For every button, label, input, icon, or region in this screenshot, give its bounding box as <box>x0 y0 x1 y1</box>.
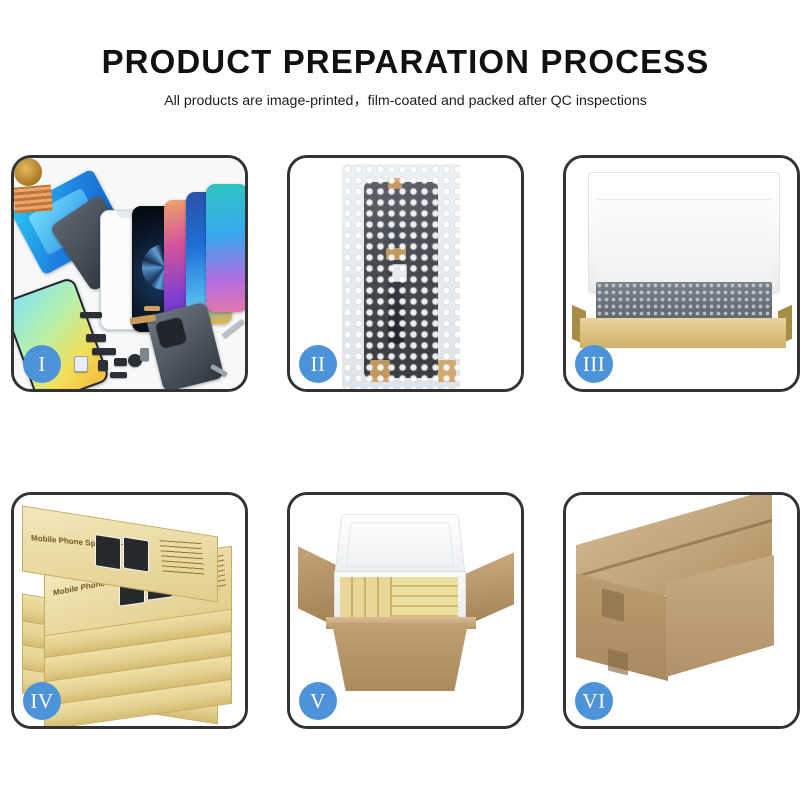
page-title: PRODUCT PREPARATION PROCESS <box>0 44 811 80</box>
step-card-i[interactable]: I <box>11 155 248 392</box>
page-subtitle: All products are image-printed，film-coat… <box>0 93 811 110</box>
component-chip-icon <box>86 334 106 342</box>
step-card-vi[interactable]: VI <box>563 492 800 729</box>
box-screen-print <box>123 536 149 572</box>
step-card-v[interactable]: V <box>287 492 524 729</box>
component-chip-icon <box>98 360 108 371</box>
component-camera-icon <box>74 356 88 372</box>
teal-phone-icon <box>206 184 245 312</box>
component-chip-icon <box>144 306 160 311</box>
component-chip-icon <box>110 372 127 378</box>
step-card-iv[interactable]: Mobile Phone Spare Parts Mobile Phone Sp… <box>11 492 248 729</box>
step-card-ii[interactable]: II <box>287 155 524 392</box>
carton-tape-lower <box>608 649 628 676</box>
bubble-wrap-texture <box>342 164 460 389</box>
step-card-iii[interactable]: III <box>563 155 800 392</box>
carton-flap-right <box>466 552 514 625</box>
lid-inner-panel <box>597 199 771 289</box>
bubble-wrap-bag <box>342 164 460 389</box>
gold-box-front-panel <box>580 318 786 348</box>
step-badge-iv: IV <box>23 682 61 720</box>
grey-bubble-wrap-padding <box>596 282 772 320</box>
step-badge-v: V <box>299 682 337 720</box>
white-box-lid <box>588 172 780 294</box>
process-steps-grid: I II III <box>11 155 800 729</box>
step-badge-iii: III <box>575 345 613 383</box>
component-chip-icon <box>140 348 149 361</box>
component-chip-icon <box>114 358 127 366</box>
component-chip-icon <box>92 348 116 355</box>
carton-front-panel <box>332 623 468 691</box>
foam-box-lid <box>334 514 466 577</box>
copper-coil-icon <box>14 158 42 186</box>
carton-tape-upper <box>602 588 624 621</box>
step-badge-i: I <box>23 345 61 383</box>
box-screen-print <box>95 534 121 570</box>
copper-grid-icon <box>14 184 53 213</box>
step-badge-vi: VI <box>575 682 613 720</box>
component-chip-icon <box>80 312 102 318</box>
page-header: PRODUCT PREPARATION PROCESS All products… <box>0 0 811 110</box>
step-badge-ii: II <box>299 345 337 383</box>
box-spec-lines <box>160 540 205 577</box>
